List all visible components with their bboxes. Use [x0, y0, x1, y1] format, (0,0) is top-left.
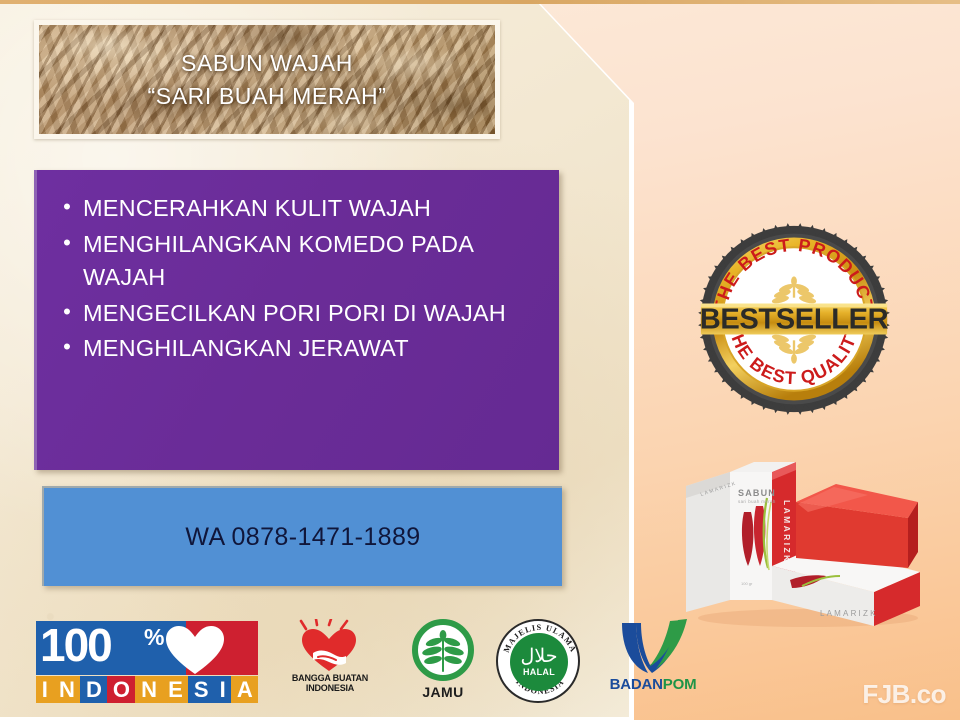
bullet-icon: •: [51, 228, 83, 254]
benefits-box: • MENCERAHKAN KULIT WAJAH • MENGHILANGKA…: [34, 170, 559, 470]
svg-text:LAMARIZK: LAMARIZK: [820, 609, 878, 618]
benefit-item: • MENGHILANGKAN KOMEDO PADA WAJAH: [51, 228, 545, 295]
indonesia-number: 100: [40, 618, 111, 672]
bpom-word-badan: BADAN: [610, 676, 663, 693]
svg-text:sari buah merah: sari buah merah: [738, 499, 776, 504]
indonesia-letter: N: [135, 676, 162, 703]
product-photo: SABUN sari buah merah LAMARIZK 100 gr LA…: [668, 440, 930, 630]
svg-text:SABUN: SABUN: [738, 488, 776, 498]
title-line-2: “SARI BUAH MERAH”: [148, 80, 387, 113]
halal-outer-ring: MAJELIS ULAMA INDONESIA حلال HALAL: [496, 619, 580, 703]
svg-text:100 gr: 100 gr: [741, 581, 753, 586]
indonesia-letter: I: [214, 676, 231, 703]
top-accent-strip: [0, 0, 960, 4]
bangga-heart-icon: [293, 619, 367, 673]
certification-logo-strip: 100 % I N D O N E S I A: [36, 612, 628, 712]
logo-jamu: JAMU: [400, 619, 486, 705]
halal-green-disc: حلال HALAL: [510, 633, 568, 691]
indonesia-letter: O: [107, 676, 135, 703]
heart-icon: [164, 625, 226, 675]
jamu-label: JAMU: [422, 684, 463, 700]
bullet-icon: •: [51, 192, 83, 218]
indonesia-percent-sign: %: [144, 622, 164, 652]
bangga-caption-line2: INDONESIA: [272, 683, 388, 693]
halal-word: HALAL: [523, 667, 555, 677]
benefit-label: MENGECILKAN PORI PORI DI WAJAH: [83, 297, 506, 331]
bpom-label: BADANPOM: [610, 676, 697, 693]
benefit-item: • MENGHILANGKAN JERAWAT: [51, 332, 545, 366]
logo-badan-pom: BADANPOM: [594, 619, 712, 705]
badge-center-text: BESTSELLER: [700, 304, 889, 336]
benefit-label: MENGHILANGKAN JERAWAT: [83, 332, 409, 366]
bestseller-badge: THE BEST PRODUCT THE BEST QUALITY: [697, 222, 891, 416]
whatsapp-contact-box[interactable]: WA 0878-1471-1889: [42, 486, 562, 586]
jamu-circle: [412, 619, 474, 681]
title-banner: SABUN WAJAH “SARI BUAH MERAH”: [34, 20, 500, 139]
whatsapp-number: WA 0878-1471-1889: [185, 523, 420, 552]
benefit-item: • MENGECILKAN PORI PORI DI WAJAH: [51, 297, 545, 331]
indonesia-letter: I: [36, 676, 53, 703]
indonesia-letter: S: [188, 676, 214, 703]
logo-100-persen-indonesia: 100 % I N D O N E S I A: [36, 621, 258, 703]
bullet-icon: •: [51, 297, 83, 323]
indonesia-wordmark: I N D O N E S I A: [36, 676, 258, 703]
indonesia-letter: A: [231, 676, 258, 703]
bullet-icon: •: [51, 332, 83, 358]
bangga-caption-line1: BANGGA BUATAN: [272, 673, 388, 683]
benefit-label: MENCERAHKAN KULIT WAJAH: [83, 192, 431, 226]
indonesia-logo-top: 100 %: [36, 621, 258, 675]
indonesia-letter: D: [80, 676, 107, 703]
halal-arabic-script: حلال: [521, 647, 558, 666]
benefit-item: • MENCERAHKAN KULIT WAJAH: [51, 192, 545, 226]
plant-icon: [420, 627, 466, 673]
logo-halal-mui: MAJELIS ULAMA INDONESIA حلال HALAL: [496, 619, 582, 705]
svg-text:LAMARIZK: LAMARIZK: [782, 500, 792, 564]
product-soap-bar: [796, 484, 918, 568]
benefit-label: MENGHILANGKAN KOMEDO PADA WAJAH: [83, 228, 545, 295]
logo-bangga-buatan-indonesia: BANGGA BUATAN INDONESIA: [272, 619, 388, 705]
bpom-word-pom: POM: [663, 676, 697, 693]
title-line-1: SABUN WAJAH: [181, 47, 353, 80]
indonesia-letter: E: [162, 676, 188, 703]
watermark: FJB.co: [862, 679, 946, 710]
title-banner-texture: SABUN WAJAH “SARI BUAH MERAH”: [39, 25, 495, 134]
indonesia-letter: N: [53, 676, 80, 703]
